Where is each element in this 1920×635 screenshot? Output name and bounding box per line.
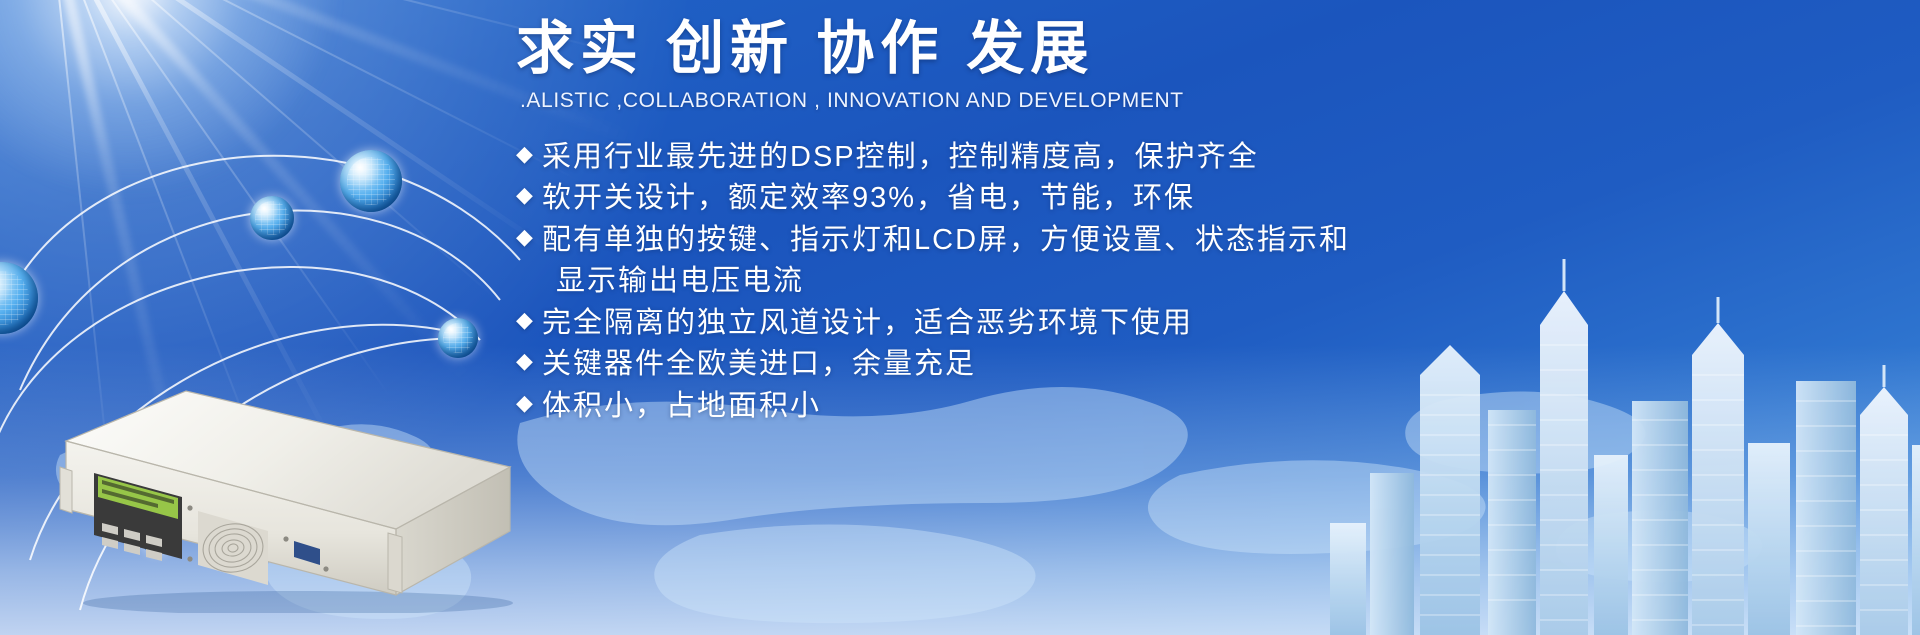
diamond-bullet-icon: ◆ [516,344,542,378]
promotional-banner: 求实 创新 协作 发展 .ALISTIC ,COLLABORATION , IN… [0,0,1920,635]
feature-text: 完全隔离的独立风道设计，适合恶劣环境下使用 [542,303,1193,344]
diamond-bullet-icon: ◆ [516,137,542,171]
diamond-bullet-icon: ◆ [516,303,542,337]
feature-list: ◆ 采用行业最先进的DSP控制，控制精度高，保护齐全 ◆ 软开关设计，额定效率9… [516,137,1476,427]
feature-text: 关键器件全欧美进口，余量充足 [542,344,976,385]
feature-text: 软开关设计，额定效率93%，省电，节能，环保 [542,178,1195,219]
feature-item: ◆ 软开关设计，额定效率93%，省电，节能，环保 [516,178,1476,219]
diamond-bullet-icon: ◆ [516,178,542,212]
globe-icon [438,318,478,358]
globe-icon [250,196,294,240]
feature-text: 采用行业最先进的DSP控制，控制精度高，保护齐全 [542,137,1259,178]
feature-item: ◆ 关键器件全欧美进口，余量充足 [516,344,1476,385]
diamond-bullet-icon: ◆ [516,220,542,254]
diamond-bullet-icon: ◆ [516,386,542,420]
globe-icon [340,150,402,212]
feature-text: 体积小，占地面积小 [542,386,821,427]
feature-item: ◆ 完全隔离的独立风道设计，适合恶劣环境下使用 [516,303,1476,344]
feature-text: 显示输出电压电流 [542,261,804,302]
feature-item: ◆ 体积小，占地面积小 [516,386,1476,427]
product-image-power-supply [58,363,518,613]
feature-text: 配有单独的按键、指示灯和LCD屏，方便设置、状态指示和 [542,220,1350,261]
feature-item: ◆ 采用行业最先进的DSP控制，控制精度高，保护齐全 [516,137,1476,178]
feature-item-continuation: ◆ 显示输出电压电流 [516,261,1476,302]
feature-item: ◆ 配有单独的按键、指示灯和LCD屏，方便设置、状态指示和 [516,220,1476,261]
banner-copy: 求实 创新 协作 发展 .ALISTIC ,COLLABORATION , IN… [516,14,1476,427]
headline: 求实 创新 协作 发展 [516,14,1476,85]
subheadline: .ALISTIC ,COLLABORATION , INNOVATION AND… [520,89,1476,113]
